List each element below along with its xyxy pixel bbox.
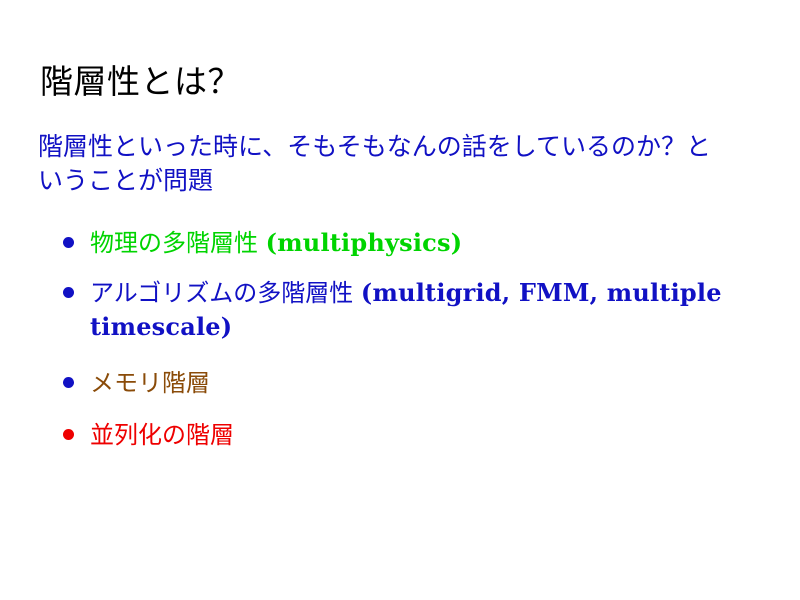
list-item-label: メモリ階層 xyxy=(90,369,210,397)
list-item: 物理の多階層性 (multiphysics) xyxy=(60,226,760,260)
presentation-slide: 階層性とは？ 階層性といった時に、そもそもなんの話をしているのか？ということが問… xyxy=(0,0,800,600)
list-item-label: アルゴリズムの多階層性 (multigrid, FMM, multiple ti… xyxy=(90,279,722,341)
bullet-dot-icon xyxy=(63,429,74,440)
list-item: メモリ階層 xyxy=(60,366,760,400)
list-item: 並列化の階層 xyxy=(60,418,760,452)
list-item-label-jp: 並列化の階層 xyxy=(90,421,234,449)
bullet-dot-icon xyxy=(63,377,74,388)
list-item-label-latin: (multiphysics) xyxy=(266,228,463,257)
list-item: アルゴリズムの多階層性 (multigrid, FMM, multiple ti… xyxy=(60,276,760,344)
list-item-label: 物理の多階層性 (multiphysics) xyxy=(90,229,462,257)
lead-paragraph: 階層性といった時に、そもそもなんの話をしているのか？ということが問題 xyxy=(38,130,720,198)
list-item-label-jp: アルゴリズムの多階層性 xyxy=(90,279,361,307)
bullet-dot-icon xyxy=(63,287,74,298)
bullet-list: 物理の多階層性 (multiphysics) アルゴリズムの多階層性 (mult… xyxy=(60,226,760,452)
bullet-dot-icon xyxy=(63,237,74,248)
list-item-label-jp: メモリ階層 xyxy=(90,369,210,397)
list-item-label: 並列化の階層 xyxy=(90,421,234,449)
list-item-label-jp: 物理の多階層性 xyxy=(90,229,266,257)
page-title: 階層性とは？ xyxy=(40,62,241,102)
